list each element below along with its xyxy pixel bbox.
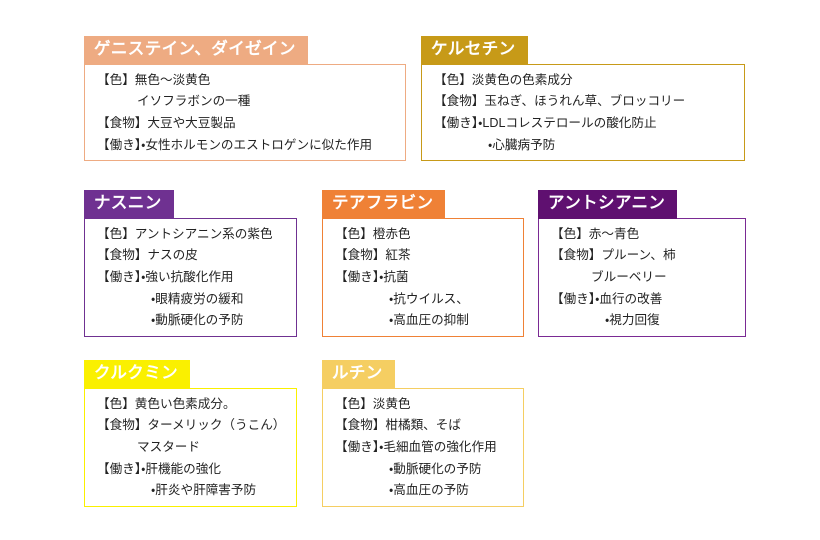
card-title-nasunin: ナスニン xyxy=(84,190,174,219)
card-line: 【食物】ナスの皮 xyxy=(97,249,286,262)
card-title-anthocyanin: アントシアニン xyxy=(538,190,677,219)
card-line: ・肝炎や肝障害予防 xyxy=(97,484,286,497)
card-line: 【食物】紅茶 xyxy=(335,249,513,262)
card-line: ・視力回復 xyxy=(551,314,735,327)
card-rutin: ルチン 【色】淡黄色 【食物】柑橘類、そば 【働き】・毛細血管の強化作用 ・動脈… xyxy=(322,360,524,507)
card-body-curcumin: 【色】黄色い色素成分。 【食物】ターメリック（うこん） マスタード 【働き】・肝… xyxy=(84,388,297,507)
card-body-theaflavin: 【色】橙赤色 【食物】紅茶 【働き】・抗菌 ・抗ウイルス、 ・高血圧の抑制 xyxy=(322,218,524,337)
card-body-genistein-daidzein: 【色】無色～淡黄色 イソフラボンの一種 【食物】大豆や大豆製品 【働き】・女性ホ… xyxy=(84,64,406,161)
card-line: 【色】赤～青色 xyxy=(551,228,735,241)
card-title-genistein-daidzein: ゲニステイン、ダイゼイン xyxy=(84,36,308,65)
card-line: 【働き】・女性ホルモンのエストロゲンに似た作用 xyxy=(97,139,395,152)
card-line: 【食物】玉ねぎ、ほうれん草、ブロッコリー xyxy=(434,95,734,108)
card-line: 【食物】ターメリック（うこん） xyxy=(97,419,286,432)
card-line: 【働き】・血行の改善 xyxy=(551,293,735,306)
card-body-nasunin: 【色】アントシアニン系の紫色 【食物】ナスの皮 【働き】・強い抗酸化作用 ・眼精… xyxy=(84,218,297,337)
card-title-curcumin: クルクミン xyxy=(84,360,190,389)
card-nasunin: ナスニン 【色】アントシアニン系の紫色 【食物】ナスの皮 【働き】・強い抗酸化作… xyxy=(84,190,297,337)
card-body-rutin: 【色】淡黄色 【食物】柑橘類、そば 【働き】・毛細血管の強化作用 ・動脈硬化の予… xyxy=(322,388,524,507)
card-line: ・眼精疲労の緩和 xyxy=(97,293,286,306)
card-line: 【働き】・肝機能の強化 xyxy=(97,463,286,476)
infographic-canvas: ゲニステイン、ダイゼイン 【色】無色～淡黄色 イソフラボンの一種 【食物】大豆や… xyxy=(0,0,820,540)
card-line: 【食物】柑橘類、そば xyxy=(335,419,513,432)
card-line: 【働き】・LDLコレステロールの酸化防止 xyxy=(434,117,734,130)
card-line: 【働き】・抗菌 xyxy=(335,271,513,284)
card-line: ・高血圧の予防 xyxy=(335,484,513,497)
card-line: ブルーベリー xyxy=(551,271,735,284)
card-curcumin: クルクミン 【色】黄色い色素成分。 【食物】ターメリック（うこん） マスタード … xyxy=(84,360,297,507)
card-line: ・心臓病予防 xyxy=(434,139,734,152)
card-line: イソフラボンの一種 xyxy=(97,95,395,108)
card-line: 【色】淡黄色 xyxy=(335,398,513,411)
card-line: 【働き】・毛細血管の強化作用 xyxy=(335,441,513,454)
card-line: 【食物】大豆や大豆製品 xyxy=(97,117,395,130)
card-line: マスタード xyxy=(97,441,286,454)
card-line: ・動脈硬化の予防 xyxy=(97,314,286,327)
card-line: 【色】無色～淡黄色 xyxy=(97,74,395,87)
card-title-rutin: ルチン xyxy=(322,360,395,389)
card-theaflavin: テアフラビン 【色】橙赤色 【食物】紅茶 【働き】・抗菌 ・抗ウイルス、 ・高血… xyxy=(322,190,524,337)
card-line: 【働き】・強い抗酸化作用 xyxy=(97,271,286,284)
card-line: 【色】橙赤色 xyxy=(335,228,513,241)
card-line: ・高血圧の抑制 xyxy=(335,314,513,327)
card-line: 【食物】プルーン、柿 xyxy=(551,249,735,262)
card-line: ・抗ウイルス、 xyxy=(335,293,513,306)
card-line: 【色】黄色い色素成分。 xyxy=(97,398,286,411)
card-line: 【色】アントシアニン系の紫色 xyxy=(97,228,286,241)
card-title-theaflavin: テアフラビン xyxy=(322,190,445,219)
card-title-quercetin: ケルセチン xyxy=(421,36,528,65)
card-line: ・動脈硬化の予防 xyxy=(335,463,513,476)
card-body-quercetin: 【色】淡黄色の色素成分 【食物】玉ねぎ、ほうれん草、ブロッコリー 【働き】・LD… xyxy=(421,64,745,161)
card-quercetin: ケルセチン 【色】淡黄色の色素成分 【食物】玉ねぎ、ほうれん草、ブロッコリー 【… xyxy=(421,36,745,161)
card-anthocyanin: アントシアニン 【色】赤～青色 【食物】プルーン、柿 ブルーベリー 【働き】・血… xyxy=(538,190,746,337)
card-genistein-daidzein: ゲニステイン、ダイゼイン 【色】無色～淡黄色 イソフラボンの一種 【食物】大豆や… xyxy=(84,36,406,161)
card-line: 【色】淡黄色の色素成分 xyxy=(434,74,734,87)
card-body-anthocyanin: 【色】赤～青色 【食物】プルーン、柿 ブルーベリー 【働き】・血行の改善 ・視力… xyxy=(538,218,746,337)
